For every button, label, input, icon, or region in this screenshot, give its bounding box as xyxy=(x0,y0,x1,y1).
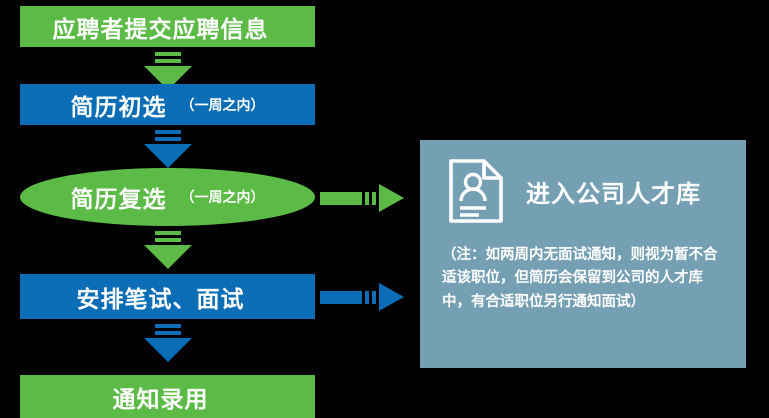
arrow-tail-bar xyxy=(155,130,181,134)
flow-node-label: 通知录用 xyxy=(113,380,209,414)
flow-node-resume-screening[interactable]: 简历初选 （一周之内） xyxy=(20,84,315,125)
arrow-tail-bar xyxy=(155,137,181,141)
flow-node-schedule-interview[interactable]: 安排笔试、面试 xyxy=(20,274,315,319)
arrow-interview-to-hire xyxy=(144,324,192,362)
flow-node-notify-hire[interactable]: 通知录用 xyxy=(20,375,315,418)
arrow-tail-bar xyxy=(155,331,181,335)
flow-node-label: 应聘者提交应聘信息 xyxy=(53,10,269,44)
flow-node-resume-review[interactable]: 简历复选 （一周之内） xyxy=(20,168,315,226)
arrow-tail-bar xyxy=(155,238,181,242)
arrow-review-to-talentpool xyxy=(320,184,404,212)
arrow-tail-tick xyxy=(365,291,369,304)
arrow-interview-to-talentpool xyxy=(320,283,404,311)
arrow-tail-bar xyxy=(320,192,362,205)
talent-pool-title: 进入公司人才库 xyxy=(526,174,701,209)
arrow-tail-tick xyxy=(372,192,376,205)
arrow-tail-bar xyxy=(155,231,181,235)
talent-pool-panel[interactable]: 进入公司人才库 （注：如两周内无面试通知，则视为暂不合适该职位，但简历会保留到公… xyxy=(420,140,746,368)
flow-node-sublabel: （一周之内） xyxy=(181,95,265,115)
arrow-head xyxy=(379,184,404,212)
talent-pool-note: （注：如两周内无面试通知，则视为暂不合适该职位，但简历会保留到公司的人才库中，有… xyxy=(442,244,728,314)
arrow-tail-bar xyxy=(155,52,181,56)
arrow-head xyxy=(379,283,404,311)
resume-person-document-icon xyxy=(448,158,504,224)
arrow-review-to-interview xyxy=(144,231,192,269)
arrow-tail-bar xyxy=(320,291,362,304)
flowchart-canvas: 应聘者提交应聘信息 简历初选 （一周之内） 简历复选 （一周之内） 安排笔试、面… xyxy=(0,0,769,418)
flow-node-label: 简历复选 xyxy=(71,180,167,214)
flow-node-submit-application[interactable]: 应聘者提交应聘信息 xyxy=(20,6,315,47)
flow-node-label: 简历初选 xyxy=(71,88,167,122)
talent-pool-header: 进入公司人才库 xyxy=(420,140,746,224)
arrow-head xyxy=(144,144,192,168)
arrow-head xyxy=(144,245,192,269)
flow-node-sublabel: （一周之内） xyxy=(181,187,265,207)
arrow-tail-bar xyxy=(155,59,181,63)
arrow-screening-to-review xyxy=(144,130,192,168)
flow-node-label: 安排笔试、面试 xyxy=(77,280,245,314)
arrow-tail-tick xyxy=(365,192,369,205)
arrow-tail-bar xyxy=(155,324,181,328)
arrow-head xyxy=(144,338,192,362)
arrow-tail-tick xyxy=(372,291,376,304)
